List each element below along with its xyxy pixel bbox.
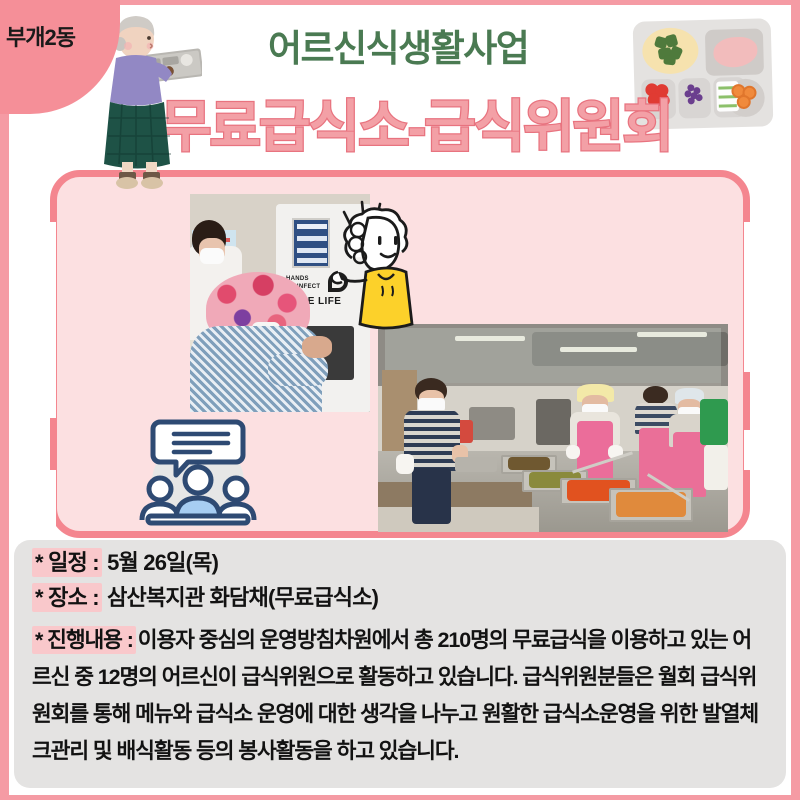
place-label: * 장소 : [32, 583, 102, 612]
food-greens-icon [653, 34, 688, 67]
poster-subtitle: 어르신식생활사업 [268, 18, 528, 72]
panel-border-gap-right-bottom [744, 430, 756, 470]
poster-root: 부개2동 어르신식생활사업 무료급식소-급식위원회 [0, 0, 800, 800]
frame-border-right [791, 0, 800, 800]
photo1-elderly-hand [302, 336, 332, 358]
panel-border-gap-right-top [744, 222, 756, 372]
frame-border-top [0, 0, 800, 5]
frame-border-left [0, 0, 9, 800]
photo1-elderly-arm [268, 354, 328, 386]
content-line-1: 이용자 중심의 운영방침차원에서 총 210명의 무료급식을 이용하고 있는 [138, 628, 728, 652]
food-carrot-icon [731, 84, 760, 113]
photo2-side-dish-bowls [455, 457, 497, 472]
photo-cafeteria-serving-line [378, 324, 728, 532]
info-row-schedule: * 일정 : 5월 26일(목) [32, 552, 768, 574]
photo1-staff-mask [200, 248, 224, 264]
photo2-server-glove [566, 445, 581, 459]
photo2-sink [469, 407, 515, 440]
photo2-food-fried [616, 492, 686, 517]
info-panel: * 일정 : 5월 26일(목) * 장소 : 삼산복지관 화담채(무료급식소)… [14, 540, 786, 788]
photo2-server-hair [643, 386, 668, 404]
schedule-value: 5월 26일(목) [107, 550, 218, 575]
photo2-volunteer-glove-left [396, 454, 413, 474]
photo2-food-braised [508, 457, 550, 469]
info-row-place: * 장소 : 삼산복지관 화담채(무료급식소) [32, 587, 768, 609]
photo2-volunteer-sleeve [704, 445, 729, 491]
food-grape-icon [683, 84, 704, 107]
poster-title: 무료급식소-급식위원회 [160, 82, 672, 163]
content-label: * 진행내용 : [32, 626, 136, 654]
photo2-elderly-volunteer [399, 378, 466, 524]
schedule-label: * 일정 : [32, 548, 102, 577]
district-badge-label: 부개2동 [6, 20, 75, 52]
frame-border-bottom [0, 795, 800, 800]
photo2-kitchen-machine [536, 399, 571, 445]
photo2-green-shirt-volunteer [700, 399, 728, 445]
photo2-volunteer-trousers [412, 468, 451, 523]
info-row-content: * 진행내용 :이용자 중심의 운영방침차원에서 총 210명의 무료급식을 이… [32, 622, 768, 770]
panel-border-gap-left-top [44, 222, 56, 418]
panel-border-gap-left-bottom [44, 470, 56, 544]
committee-meeting-icon [138, 416, 258, 534]
place-value: 삼산복지관 화담채(무료급식소) [107, 585, 378, 610]
girl-doodle-illustration [322, 196, 434, 332]
